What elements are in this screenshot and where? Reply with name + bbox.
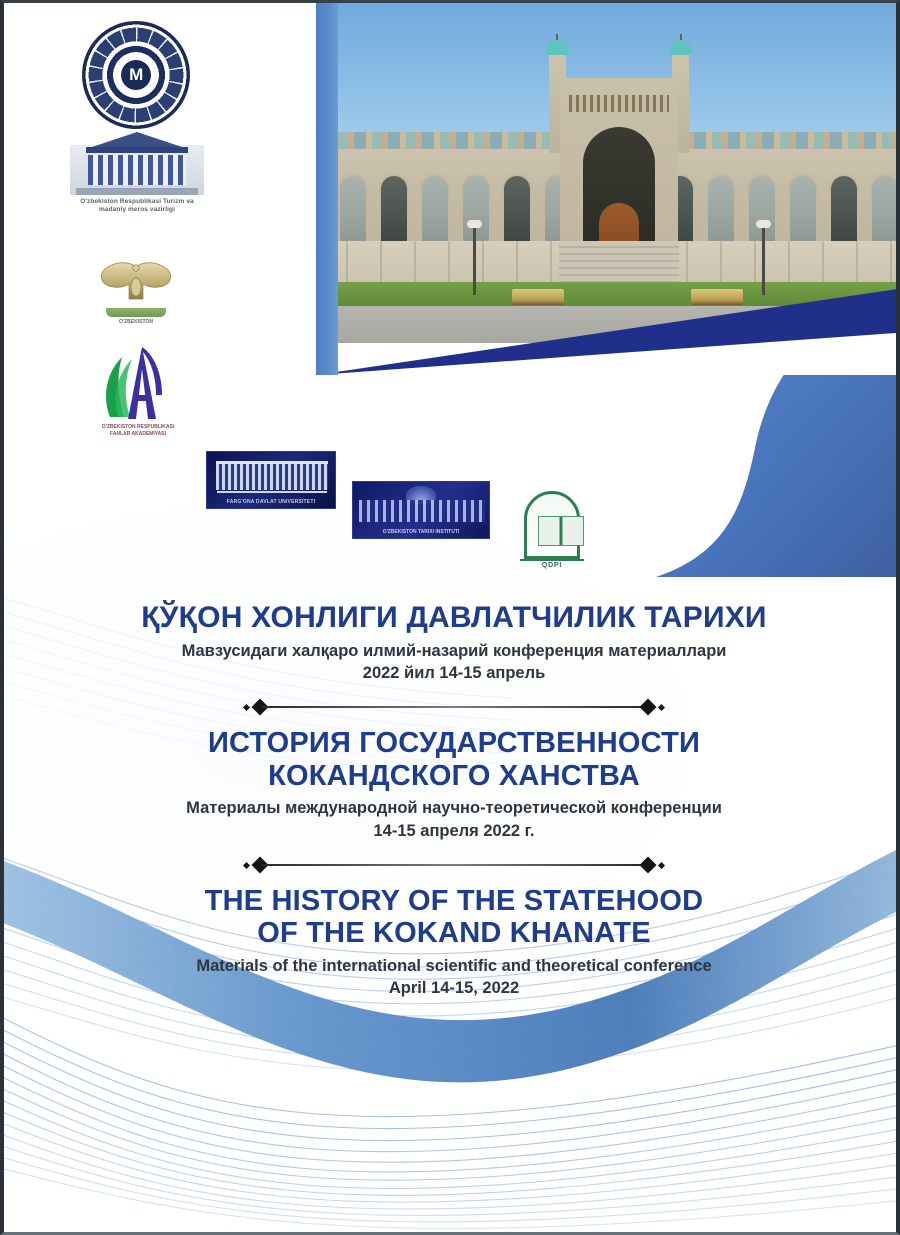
russian-subtitle: Материалы международной научно-теоретиче… — [4, 797, 900, 820]
english-title-line-1: THE HISTORY OF THE STATEHOOD — [4, 885, 900, 917]
academy-logo-caption: O'ZBEKISTON RESPUBLIKASI FANLAR AKADEMIY… — [92, 424, 184, 437]
central-portal — [560, 78, 678, 268]
humo-logo-caption: O'ZBEKISTON — [96, 319, 176, 325]
russian-title-line-2: КОКАНДСКОГО ХАНСТВА — [4, 760, 900, 792]
ministry-logo-caption: O'zbekiston Respublikasi Turizm va madan… — [66, 198, 208, 214]
state-emblem-logo: M — [82, 21, 190, 129]
humo-bird-icon — [99, 259, 173, 305]
russian-date: 14-15 апреля 2022 г. — [4, 820, 900, 843]
english-title-line-2: OF THE KOKAND KHANATE — [4, 917, 900, 949]
history-logo-plate: O'ZBEKISTON TARIXI INSTITUTI — [352, 481, 490, 539]
english-date: April 14-15, 2022 — [4, 977, 900, 1000]
fergana-university-logo: FARG'ONA DAVLAT UNIVERSITETI — [206, 451, 336, 509]
academy-of-sciences-logo: O'ZBEKISTON RESPUBLIKASI FANLAR AKADEMIY… — [92, 339, 184, 437]
qdpi-arch-icon — [524, 491, 580, 559]
english-subtitle: Materials of the international scientifi… — [4, 955, 900, 978]
khudayar-khan-palace-image — [338, 3, 900, 343]
organizer-logo-column: M O'zbekiston Respublikasi Turizm va mad… — [4, 3, 324, 583]
divider-ornament-2 — [244, 857, 664, 873]
uzbek-date: 2022 йил 14-15 апрель — [4, 662, 900, 685]
kokand-pedagogical-institute-logo: QDPI — [518, 491, 586, 571]
uzbek-title-line-1: ҚЎҚОН ХОНЛИГИ ДАВЛАТЧИЛИК ТАРИХИ — [4, 601, 900, 635]
fergana-logo-plate: FARG'ONA DAVLAT UNIVERSITETI — [206, 451, 336, 509]
humo-base-icon — [106, 308, 166, 317]
institute-of-history-logo: O'ZBEKISTON TARIXI INSTITUTI — [352, 481, 490, 539]
portal-inscription — [569, 95, 668, 112]
ministry-of-tourism-logo: O'zbekiston Respublikasi Turizm va madan… — [66, 145, 208, 237]
academy-a-icon — [92, 339, 184, 421]
conference-proceedings-cover: M O'zbekiston Respublikasi Turizm va mad… — [0, 0, 900, 1235]
uzbek-subtitle: Мавзусидаги халқаро илмий-назарий конфер… — [4, 640, 900, 663]
fergana-building-icon — [216, 461, 328, 490]
open-book-icon — [538, 516, 584, 546]
divider-ornament-1 — [244, 699, 664, 715]
title-block-russian: ИСТОРИЯ ГОСУДАРСТВЕННОСТИ КОКАНДСКОГО ХА… — [4, 727, 900, 842]
title-block-uzbek: ҚЎҚОН ХОНЛИГИ ДАВЛАТЧИЛИК ТАРИХИ Мавзуси… — [4, 601, 900, 685]
lamp-post-left — [473, 227, 476, 295]
state-emblem-monogram: M — [121, 60, 151, 90]
fergana-logo-caption: FARG'ONA DAVLAT UNIVERSITETI — [207, 499, 335, 505]
history-logo-caption: O'ZBEKISTON TARIXI INSTITUTI — [353, 529, 489, 535]
ministry-building-icon — [70, 145, 204, 195]
lamp-post-right — [762, 227, 765, 295]
title-block-english: THE HISTORY OF THE STATEHOOD OF THE KOKA… — [4, 885, 900, 1000]
humo-bird-logo: O'ZBEKISTON — [96, 253, 176, 325]
russian-title-line-1: ИСТОРИЯ ГОСУДАРСТВЕННОСТИ — [4, 727, 900, 759]
title-stack: ҚЎҚОН ХОНЛИГИ ДАВЛАТЧИЛИК ТАРИХИ Мавзуси… — [4, 601, 900, 1000]
qdpi-logo-caption: QDPI — [518, 562, 586, 569]
figures-icon — [359, 500, 485, 522]
